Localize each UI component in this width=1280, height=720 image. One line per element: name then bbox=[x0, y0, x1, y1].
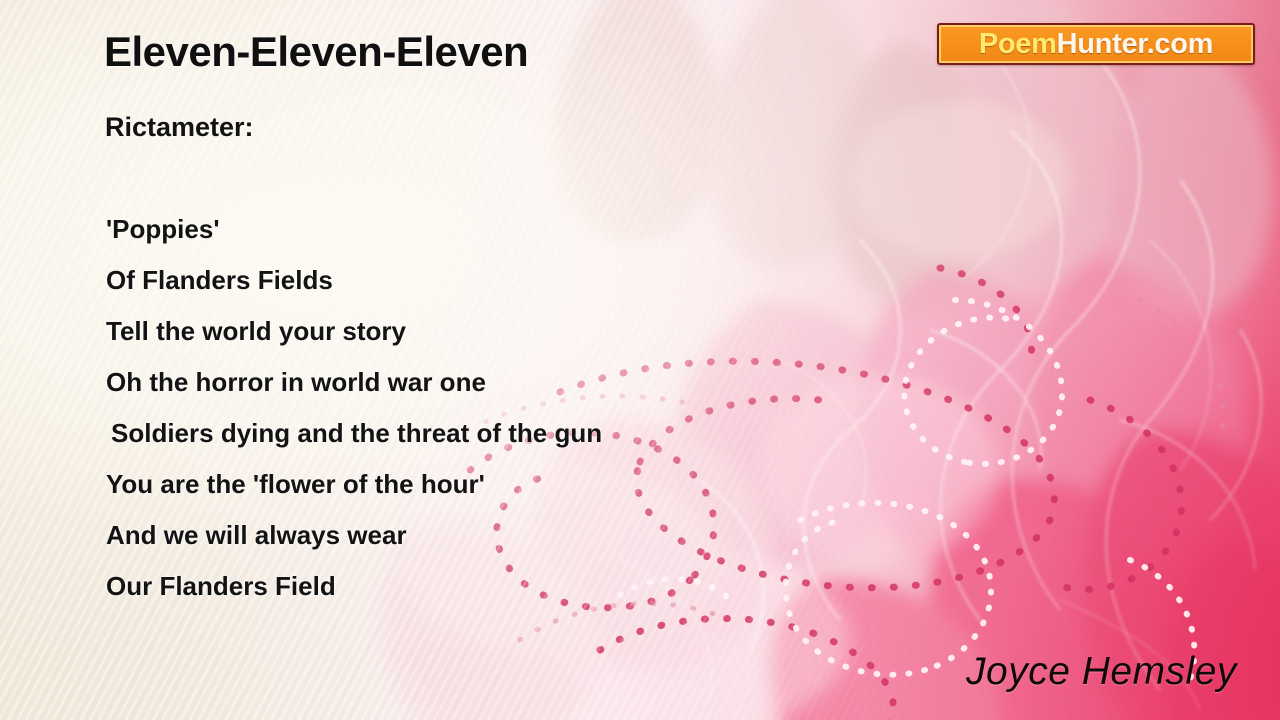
poemhunter-logo-text: PoemHunter.com bbox=[979, 28, 1213, 61]
poem-line: And we will always wear bbox=[0, 520, 1280, 571]
poem-line: Oh the horror in world war one bbox=[0, 367, 1280, 418]
poem-line: 'Poppies' bbox=[0, 214, 1280, 265]
poem-content: Eleven-Eleven-Eleven Rictameter: 'Poppie… bbox=[0, 0, 1280, 720]
poem-title: Eleven-Eleven-Eleven bbox=[104, 28, 528, 76]
poem-line: Of Flanders Fields bbox=[0, 265, 1280, 316]
poem-body: 'Poppies' Of Flanders Fields Tell the wo… bbox=[0, 214, 1280, 622]
logo-word-hunter: Hunter.com bbox=[1057, 28, 1214, 60]
poem-author: Joyce Hemsley bbox=[966, 650, 1237, 694]
poem-line: You are the 'flower of the hour' bbox=[0, 469, 1280, 520]
poem-image-card: Eleven-Eleven-Eleven Rictameter: 'Poppie… bbox=[0, 0, 1280, 720]
poem-form-label: Rictameter: bbox=[105, 112, 254, 143]
poemhunter-logo-badge[interactable]: PoemHunter.com bbox=[937, 23, 1255, 65]
poem-line: Tell the world your story bbox=[0, 316, 1280, 367]
poem-line: Our Flanders Field bbox=[0, 571, 1280, 622]
logo-word-poem: Poem bbox=[979, 28, 1057, 60]
poem-line: Soldiers dying and the threat of the gun bbox=[0, 418, 1280, 469]
